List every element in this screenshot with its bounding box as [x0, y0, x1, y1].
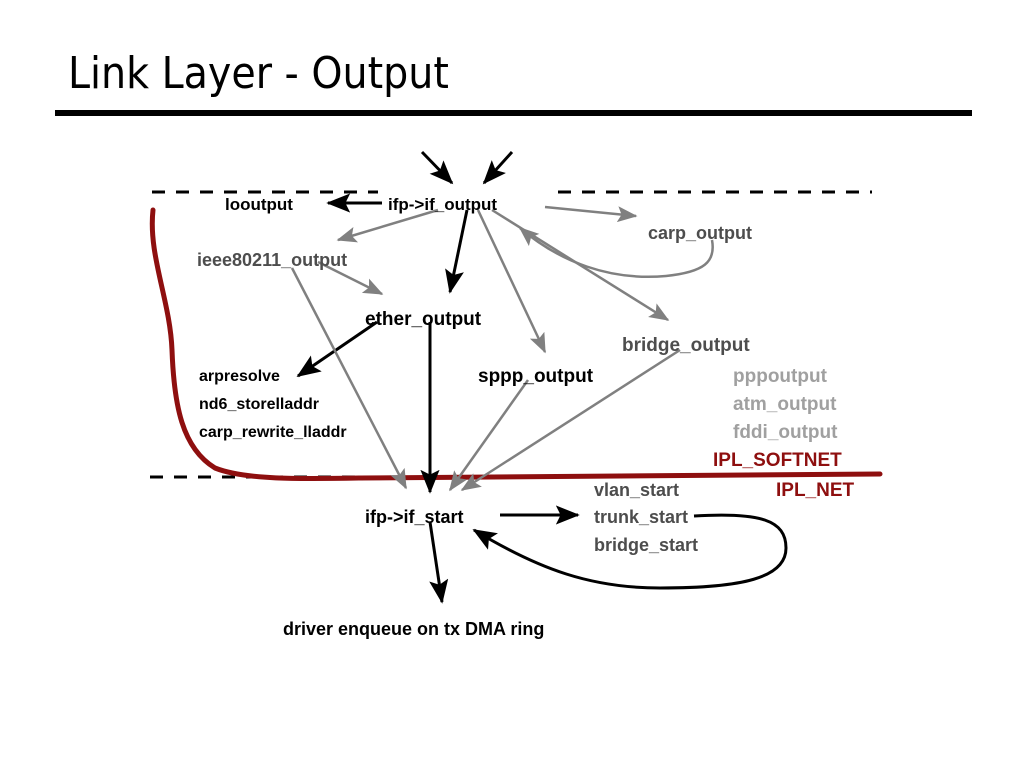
label-ipl-net: IPL_NET [776, 481, 854, 500]
node-driver-enqueue[interactable]: driver enqueue on tx DMA ring [283, 620, 544, 638]
slide-canvas: Link Layer - Output [0, 0, 1024, 768]
node-atm-output[interactable]: atm_output [733, 395, 836, 414]
node-trunk-start[interactable]: trunk_start [594, 508, 688, 526]
node-pppoutput[interactable]: pppoutput [733, 367, 827, 386]
edge-if_output-to-ether_output [450, 210, 467, 292]
node-fddi-output[interactable]: fddi_output [733, 423, 837, 442]
node-ifp-if-start[interactable]: ifp->if_start [365, 508, 464, 526]
edge-if_output-to-ieee80211_output [338, 210, 438, 240]
edge-if_output-to-carp_output [545, 207, 636, 216]
edge-incoming-left-to-if_output [422, 152, 452, 183]
node-nd6-storelladdr[interactable]: nd6_storelladdr [199, 397, 319, 413]
label-ipl-softnet: IPL_SOFTNET [713, 451, 842, 470]
node-bridge-output[interactable]: bridge_output [622, 336, 750, 355]
edge-if_output-to-sppp_output [478, 210, 545, 352]
node-bridge-start[interactable]: bridge_start [594, 536, 698, 554]
node-sppp-output[interactable]: sppp_output [478, 367, 593, 386]
node-carp-output[interactable]: carp_output [648, 224, 752, 242]
edge-incoming-right-to-if_output [484, 152, 512, 183]
edge-ieee80211_output-to-if_start [292, 268, 406, 488]
node-ieee80211-output[interactable]: ieee80211_output [197, 251, 347, 269]
node-ether-output[interactable]: ether_output [365, 310, 481, 329]
node-carp-rewrite-lladdr[interactable]: carp_rewrite_lladdr [199, 425, 347, 441]
node-looutput[interactable]: looutput [225, 196, 293, 213]
edge-if_start-to-driver_enqueue [430, 522, 442, 602]
node-vlan-start[interactable]: vlan_start [594, 481, 679, 499]
node-ifp-if-output[interactable]: ifp->if_output [388, 196, 497, 213]
node-arpresolve[interactable]: arpresolve [199, 369, 280, 385]
edge-ether_output-to-arpresolve [298, 322, 377, 376]
